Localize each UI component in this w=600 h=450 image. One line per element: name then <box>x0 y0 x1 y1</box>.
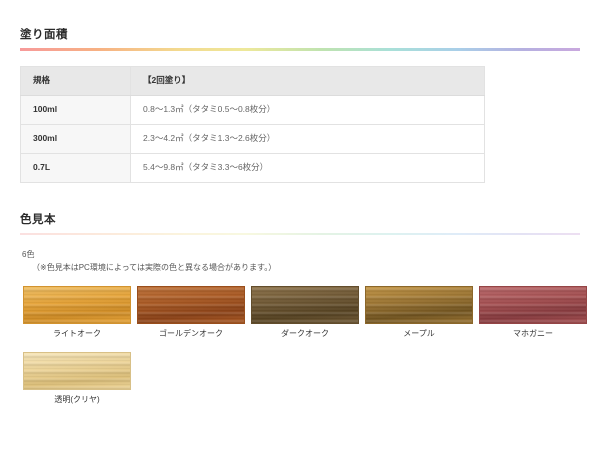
color-swatch-label: メープル <box>365 329 473 339</box>
paint-area-heading: 塗り面積 <box>20 28 580 48</box>
row-cell-coverage: 2.3〜4.2㎡（タタミ1.3〜2.6枚分） <box>131 124 485 153</box>
row-header-spec: 300ml <box>21 124 131 153</box>
paint-area-table-wrap: 規格 【2回塗り】 100ml 0.8〜1.3㎡（タタミ0.5〜0.8枚分） 3… <box>20 66 580 183</box>
color-swatch-label: 透明(クリヤ) <box>23 395 131 405</box>
column-header-spec: 規格 <box>21 66 131 95</box>
product-detail-page: 塗り面積 規格 【2回塗り】 100ml 0.8〜1.3㎡（タタミ0 <box>0 0 600 450</box>
color-swatch-label: ダークオーク <box>251 329 359 339</box>
paint-area-table: 規格 【2回塗り】 100ml 0.8〜1.3㎡（タタミ0.5〜0.8枚分） 3… <box>20 66 485 183</box>
section-divider-rainbow <box>20 48 580 51</box>
color-sample-section: 色見本 6色 （※色見本はPC環境によっては実際の色と異なる場合があります。） … <box>0 213 600 417</box>
color-chip[interactable] <box>137 286 245 324</box>
color-chip[interactable] <box>23 286 131 324</box>
color-swatch-item[interactable]: メープル <box>362 286 476 339</box>
color-swatch-item[interactable]: マホガニー <box>476 286 590 339</box>
color-swatch-label: マホガニー <box>479 329 587 339</box>
color-sample-note: 6色 （※色見本はPC環境によっては実際の色と異なる場合があります。） <box>20 249 580 275</box>
row-cell-coverage: 0.8〜1.3㎡（タタミ0.5〜0.8枚分） <box>131 95 485 124</box>
color-swatch-item[interactable]: ライトオーク <box>20 286 134 339</box>
table-row: 100ml 0.8〜1.3㎡（タタミ0.5〜0.8枚分） <box>21 95 485 124</box>
row-header-spec: 100ml <box>21 95 131 124</box>
color-swatch-item[interactable]: ダークオーク <box>248 286 362 339</box>
table-row: 0.7L 5.4〜9.8㎡（タタミ3.3〜6枚分） <box>21 153 485 182</box>
color-chip[interactable] <box>23 352 131 390</box>
color-sample-heading: 色見本 <box>20 213 580 233</box>
row-cell-coverage: 5.4〜9.8㎡（タタミ3.3〜6枚分） <box>131 153 485 182</box>
color-swatch-label: ライトオーク <box>23 329 131 339</box>
color-swatch-label: ゴールデンオーク <box>137 329 245 339</box>
color-count-label: 6色 <box>20 249 580 262</box>
color-swatch-item[interactable]: 透明(クリヤ) <box>20 352 134 405</box>
table-row: 300ml 2.3〜4.2㎡（タタミ1.3〜2.6枚分） <box>21 124 485 153</box>
color-swatch-item[interactable]: ゴールデンオーク <box>134 286 248 339</box>
column-header-coating: 【2回塗り】 <box>131 66 485 95</box>
paint-area-section: 塗り面積 規格 【2回塗り】 100ml 0.8〜1.3㎡（タタミ0 <box>0 0 600 183</box>
table-header-row: 規格 【2回塗り】 <box>21 66 485 95</box>
color-swatch-grid: ライトオーク ゴールデンオーク ダークオーク メープル マホガニー 透明(クリヤ <box>20 286 590 417</box>
section-divider-rainbow-faded <box>20 233 580 235</box>
color-chip[interactable] <box>251 286 359 324</box>
color-disclaimer-text: （※色見本はPC環境によっては実際の色と異なる場合があります。） <box>20 262 580 275</box>
row-header-spec: 0.7L <box>21 153 131 182</box>
color-chip[interactable] <box>365 286 473 324</box>
color-chip[interactable] <box>479 286 587 324</box>
